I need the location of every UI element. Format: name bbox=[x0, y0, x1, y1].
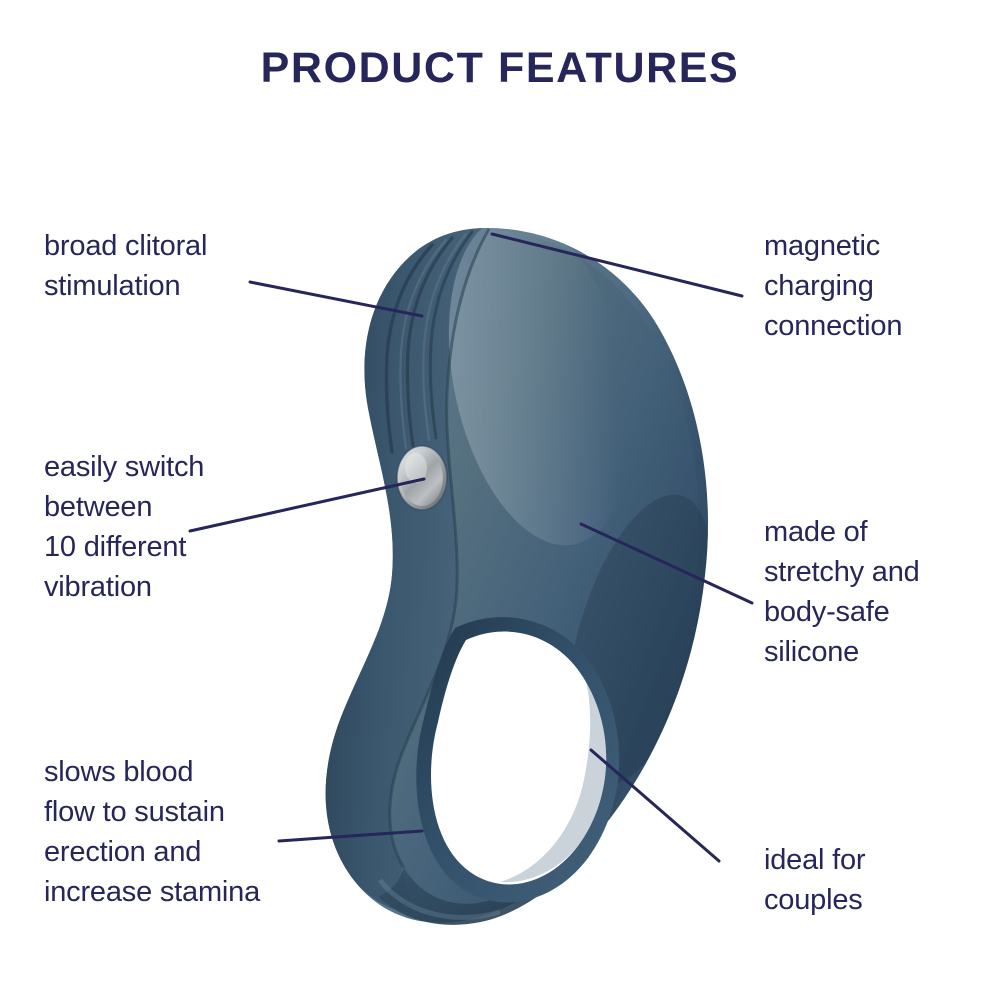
product-features-infographic: PRODUCT FEATURES bbox=[0, 0, 1000, 1000]
power-button[interactable] bbox=[397, 446, 447, 510]
product-illustration bbox=[0, 0, 1000, 1000]
